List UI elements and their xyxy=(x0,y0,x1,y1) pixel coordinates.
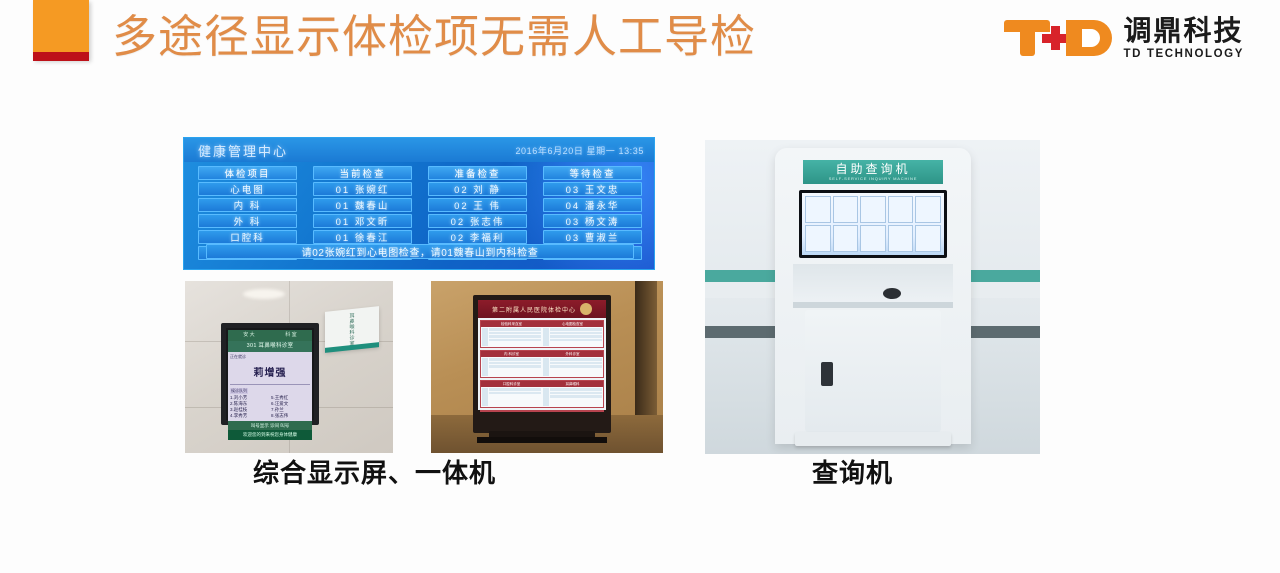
kiosk-col-label xyxy=(482,328,488,346)
kiosk-col-label xyxy=(543,358,549,376)
kiosk-col-rows xyxy=(489,358,541,376)
brand-logo: 调鼎科技 TD TECHNOLOGY xyxy=(1004,10,1244,66)
screen-queue-tag: 候诊队列 xyxy=(230,388,248,394)
kiosk-banner-subtitle: SELF-SERVICE INQUIRY MACHINE xyxy=(829,176,917,182)
led-cell: 01 魏春山 xyxy=(313,198,412,212)
monitor-panel xyxy=(860,196,886,223)
led-col-header: 体检项目 xyxy=(198,166,297,180)
kiosk-plinth xyxy=(795,432,951,446)
led-col-header: 当前检查 xyxy=(313,166,412,180)
kiosk-section-body xyxy=(481,327,603,347)
kiosk-base xyxy=(477,437,607,443)
slide-header: 多途径显示体检项无需人工导检 调鼎科技 TD TECHNOLOGY xyxy=(0,0,1280,84)
plus-icon xyxy=(1042,26,1068,50)
led-board-title: 健康管理中心 xyxy=(198,141,288,160)
kiosk-col xyxy=(481,357,542,377)
brand-name-en: TD TECHNOLOGY xyxy=(1124,47,1244,62)
led-cell: 01 徐春江 xyxy=(313,230,412,244)
led-board-datetime: 2016年6月20日 星期一 13:35 xyxy=(515,144,644,157)
kiosk-section-body xyxy=(481,357,603,377)
kiosk-col xyxy=(542,357,603,377)
kiosk-monitor xyxy=(799,190,947,258)
caption-left: 综合显示屏、一体机 xyxy=(253,453,496,490)
kiosk-monitor-content xyxy=(802,193,944,255)
led-cell: 02 李福利 xyxy=(428,230,527,244)
led-cell: 03 王文忠 xyxy=(543,182,642,196)
monitor-panel xyxy=(915,225,941,252)
screen-header-left: 安 大 xyxy=(228,330,270,341)
kiosk-col-rows xyxy=(489,388,541,406)
monitor-panel xyxy=(888,225,914,252)
led-cell: 01 张婉红 xyxy=(313,182,412,196)
slide-root: 多途径显示体检项无需人工导检 调鼎科技 TD TECHNOLOGY 健康管理中心… xyxy=(0,0,1280,573)
kiosk-banner: 自助查询机 SELF-SERVICE INQUIRY MACHINE xyxy=(803,160,943,184)
logo-d-counter xyxy=(1082,29,1100,47)
screen-current-patient: 莉增强 xyxy=(230,361,310,382)
kiosk-section: 内 科诊室 外科诊室 xyxy=(480,350,604,378)
screen-queue-list: 1.刘小芳 5.王秀红 2.陈海东 6.汪爱文 3.赵桂枝 7.孙兰 4.李秀芳… xyxy=(230,395,310,419)
led-cell: 02 刘 静 xyxy=(428,182,527,196)
kiosk-enclosure: 第二附属人民医院体检中心 检验科采血室 心电图检查室 内 科诊室 xyxy=(473,295,611,433)
monitor-panel xyxy=(888,196,914,223)
led-cell: 03 杨文涛 xyxy=(543,214,642,228)
led-col-header: 等待检查 xyxy=(543,166,642,180)
led-cell: 02 王 伟 xyxy=(428,198,527,212)
monitor-panel xyxy=(805,225,831,252)
led-board-photo: 健康管理中心 2016年6月20日 星期一 13:35 体检项目 当前检查 准备… xyxy=(183,137,655,270)
kiosk-footer-panel xyxy=(480,410,604,412)
monitor-panel xyxy=(833,225,859,252)
led-cell: 01 邓文昕 xyxy=(313,214,412,228)
monitor-panel xyxy=(915,196,941,223)
monitor-panel xyxy=(833,196,859,223)
department-display-screen: 安 大 科 室 301 耳鼻喉科诊室 正在就诊 莉增强 候诊队列 1.刘小芳 5… xyxy=(221,323,319,425)
led-cell: 口腔科 xyxy=(198,230,297,244)
td-plus-icon xyxy=(1004,18,1112,58)
kiosk-section: 检验科采血室 心电图检查室 xyxy=(480,320,604,348)
screen-header-right: 科 室 xyxy=(270,330,312,341)
mouse-device xyxy=(883,288,901,299)
kiosk-screen: 检验科采血室 心电图检查室 内 科诊室 外科诊室 xyxy=(478,318,606,410)
led-cell: 外 科 xyxy=(198,214,297,228)
kiosk-hospital-name: 第二附属人民医院体检中心 xyxy=(492,305,576,314)
led-cell: 心电图 xyxy=(198,182,297,196)
screen-body: 正在就诊 莉增强 候诊队列 1.刘小芳 5.王秀红 2.陈海东 6.汪爱文 3.… xyxy=(228,352,312,421)
screen-header-row: 安 大 科 室 xyxy=(228,330,312,341)
brand-wordmark: 调鼎科技 TD TECHNOLOGY xyxy=(1124,15,1244,62)
self-service-machine-photo: 自助查询机 SELF-SERVICE INQUIRY MACHINE xyxy=(705,140,1040,454)
kiosk-col xyxy=(542,327,603,347)
title-accent-square xyxy=(33,0,89,60)
screen-footer: 叫号显示 诊间 叫号 xyxy=(228,421,312,430)
kiosk-col-rows xyxy=(550,388,602,406)
kiosk-banner-title: 自助查询机 xyxy=(835,163,910,176)
screen-footer-message: 欢迎您的到来祝您身体健康 xyxy=(228,430,312,440)
screen-room-band: 301 耳鼻喉科诊室 xyxy=(228,341,312,352)
led-cell: 内 科 xyxy=(198,198,297,212)
kiosk-col-label xyxy=(543,388,549,406)
led-cell: 04 潘永华 xyxy=(543,198,642,212)
logo-t-stem xyxy=(1020,20,1035,56)
kiosk-tray-lip xyxy=(793,302,953,308)
queue-entry: 4.李秀芳 xyxy=(230,413,269,419)
page-title: 多途径显示体检项无需人工导检 xyxy=(112,8,756,66)
kiosk-col-label xyxy=(482,388,488,406)
kiosk-section: 口腔科诊室 耳鼻喉科 xyxy=(480,380,604,408)
monitor-panel xyxy=(860,225,886,252)
kiosk-col-rows xyxy=(550,358,602,376)
led-board-ticker: 请02张婉红到心电图检查，请01魏春山到内科检查 xyxy=(206,244,634,259)
kiosk-header-bar: 第二附属人民医院体检中心 xyxy=(478,300,606,318)
led-cell: 03 曹淑兰 xyxy=(543,230,642,244)
monitor-panel xyxy=(805,196,831,223)
led-col-header: 准备检查 xyxy=(428,166,527,180)
screen-divider xyxy=(230,384,310,385)
ceiling-light-reflection xyxy=(243,289,285,299)
led-cell: 02 张志伟 xyxy=(428,214,527,228)
vertical-kiosk-photo: 第二附属人民医院体检中心 检验科采血室 心电图检查室 内 科诊室 xyxy=(431,281,663,453)
kiosk-cabinet: 自助查询机 SELF-SERVICE INQUIRY MACHINE xyxy=(775,148,971,444)
caption-right: 查询机 xyxy=(812,453,893,490)
kiosk-col xyxy=(481,387,542,407)
kiosk-col xyxy=(481,327,542,347)
kiosk-keyboard-tray xyxy=(793,264,953,306)
kiosk-col-rows xyxy=(489,328,541,346)
queue-entry: 8.张志伟 xyxy=(271,413,310,419)
led-board-header: 健康管理中心 2016年6月20日 星期一 13:35 xyxy=(184,138,654,162)
wall-display-photo: 安 大 科 室 301 耳鼻喉科诊室 正在就诊 莉增强 候诊队列 1.刘小芳 5… xyxy=(185,281,393,453)
hospital-emblem-icon xyxy=(580,303,592,315)
kiosk-col-rows xyxy=(550,328,602,346)
card-reader-slot xyxy=(821,362,833,386)
kiosk-col-label xyxy=(543,328,549,346)
screen-subtitle: 正在就诊 xyxy=(230,354,310,360)
kiosk-col xyxy=(542,387,603,407)
kiosk-section-body xyxy=(481,387,603,407)
brand-name-cn: 调鼎科技 xyxy=(1124,15,1244,47)
wall-sign-text: 耳鼻喉科诊室 xyxy=(349,313,356,347)
title-accent-bar xyxy=(33,52,89,61)
kiosk-col-label xyxy=(482,358,488,376)
